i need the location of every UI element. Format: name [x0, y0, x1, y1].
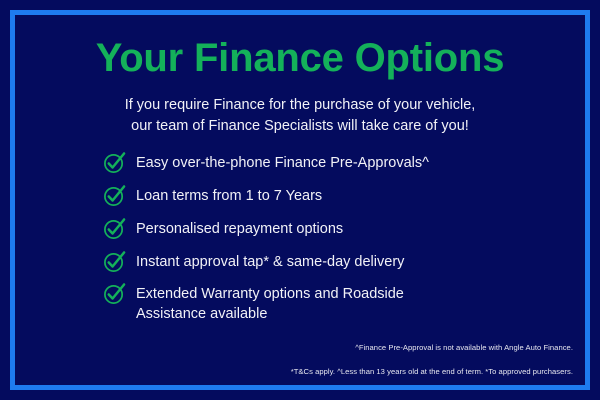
list-item-label: Easy over-the-phone Finance Pre-Approval…	[136, 153, 429, 174]
subtitle-text: If you require Finance for the purchase …	[125, 95, 476, 136]
list-item-label: Extended Warranty options and Roadside A…	[136, 284, 404, 324]
list-item-label: Loan terms from 1 to 7 Years	[136, 186, 322, 207]
list-item: Easy over-the-phone Finance Pre-Approval…	[103, 153, 561, 174]
card-border-frame: Your Finance Options If you require Fina…	[10, 10, 590, 390]
check-circle-icon	[103, 217, 126, 240]
check-circle-icon	[103, 151, 126, 174]
finance-options-card: Your Finance Options If you require Fina…	[0, 0, 600, 400]
disclaimer-block: ^Finance Pre-Approval is not available w…	[291, 343, 573, 376]
disclaimer-line-1: ^Finance Pre-Approval is not available w…	[291, 343, 573, 352]
list-item-label: Instant approval tap* & same-day deliver…	[136, 252, 404, 273]
check-circle-icon	[103, 250, 126, 273]
page-title: Your Finance Options	[96, 38, 505, 78]
check-circle-icon	[103, 282, 126, 305]
list-item: Personalised repayment options	[103, 219, 561, 240]
list-item-label: Personalised repayment options	[136, 219, 343, 240]
disclaimer-line-2: *T&Cs apply. ^Less than 13 years old at …	[291, 367, 573, 376]
list-item: Instant approval tap* & same-day deliver…	[103, 252, 561, 273]
benefits-list: Easy over-the-phone Finance Pre-Approval…	[15, 153, 585, 324]
list-item: Loan terms from 1 to 7 Years	[103, 186, 561, 207]
list-item: Extended Warranty options and Roadside A…	[103, 284, 561, 324]
check-circle-icon	[103, 184, 126, 207]
